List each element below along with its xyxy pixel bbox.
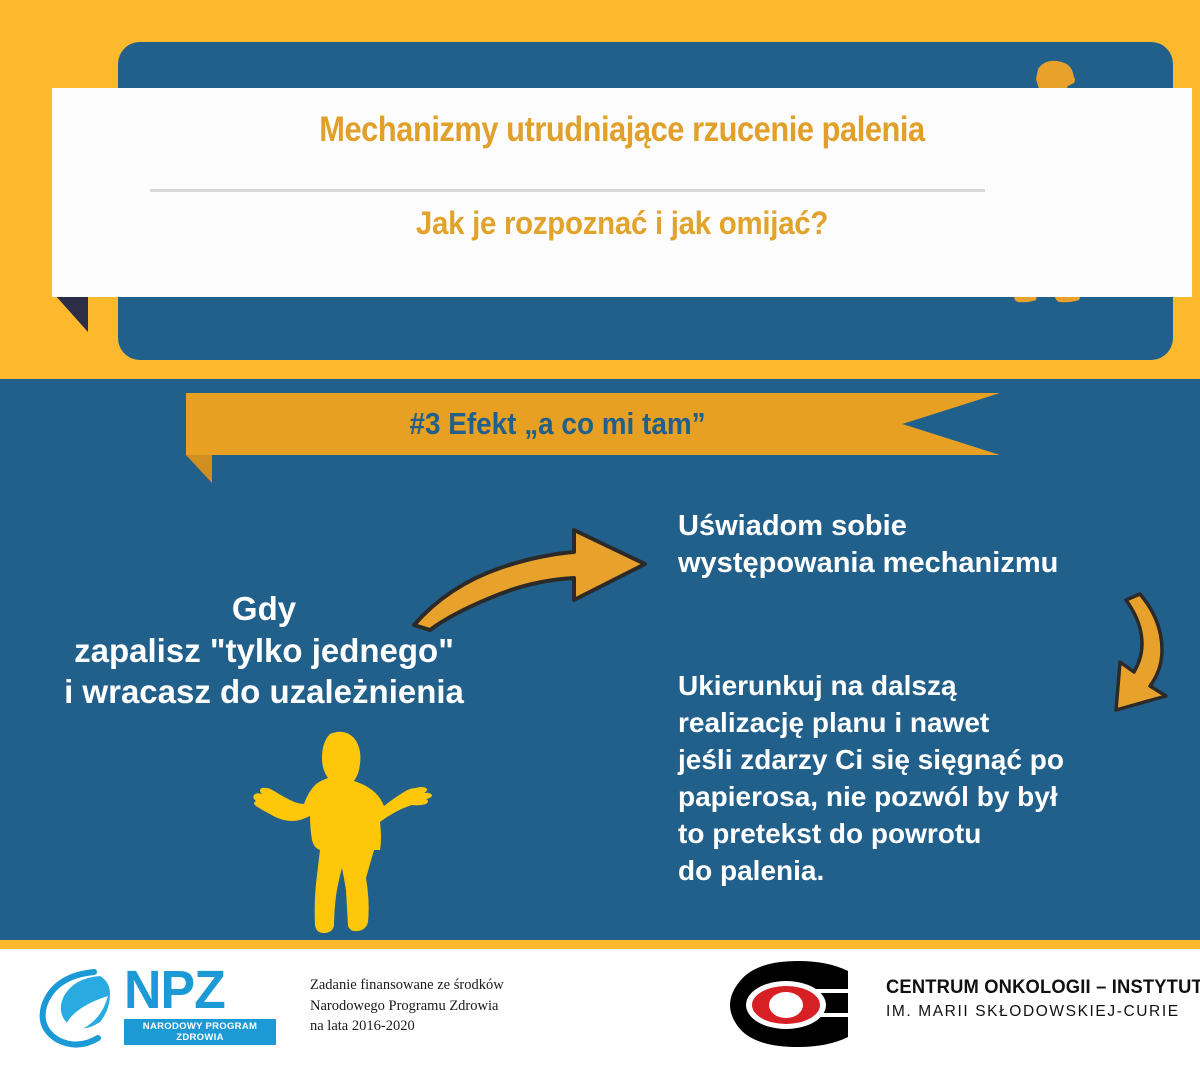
awareness-text-block: Uświadom sobie występowania mechanizmu	[678, 508, 1188, 581]
npz-wordmark: NPZ NARODOWY PROGRAM ZDROWIA	[124, 963, 282, 1045]
funding-text: Zadanie finansowane ze środków Narodoweg…	[310, 975, 504, 1037]
coi-wordmark: CENTRUM ONKOLOGII – INSTYTUT IM. MARII S…	[886, 976, 1200, 1021]
page-title: Mechanizmy utrudniające rzucenie palenia	[120, 110, 1123, 150]
coi-name-line2: IM. MARII SKŁODOWSKIEJ-CURIE	[886, 1003, 1200, 1021]
footer-accent-strip	[0, 940, 1200, 949]
title-divider	[150, 189, 985, 192]
shrugging-woman-silhouette-icon	[252, 726, 432, 940]
action-text-block: Ukierunkuj na dalszą realizację planu i …	[678, 668, 1178, 890]
title-card: Mechanizmy utrudniające rzucenie palenia…	[52, 88, 1192, 297]
coi-name-line1: CENTRUM ONKOLOGII – INSTYTUT	[886, 976, 1200, 999]
centrum-onkologii-c-logo-icon	[728, 959, 874, 1049]
curved-arrow-right-icon	[408, 512, 658, 632]
npz-leaf-circle-logo-icon	[30, 962, 122, 1048]
npz-subtitle: NARODOWY PROGRAM ZDROWIA	[124, 1019, 276, 1045]
card-shadow-fold	[54, 294, 88, 332]
ribbon-fold-tab	[186, 455, 212, 483]
page-subtitle: Jak je rozpoznać i jak omijać?	[98, 205, 1147, 242]
section-ribbon-label: #3 Efekt „a co mi tam”	[410, 406, 706, 442]
footer: NPZ NARODOWY PROGRAM ZDROWIA Zadanie fin…	[0, 949, 1200, 1065]
section-ribbon-banner: #3 Efekt „a co mi tam”	[186, 393, 1000, 455]
npz-letters: NPZ	[124, 963, 276, 1017]
infographic-poster: Mechanizmy utrudniające rzucenie palenia…	[0, 0, 1200, 1065]
